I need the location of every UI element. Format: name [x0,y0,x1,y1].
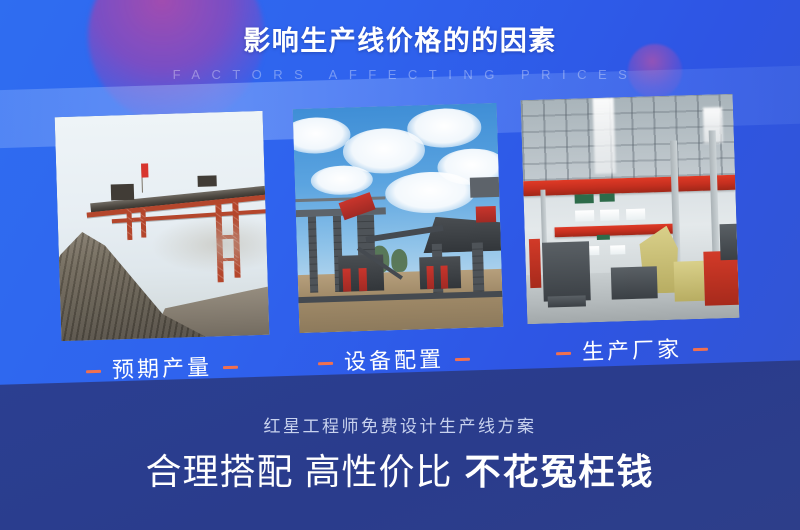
machine-dark-right [720,224,738,260]
caption-label: 预期产量 [112,356,213,381]
caption-equipment-config: 设备配置 [318,348,471,375]
dash-right-icon [223,365,238,368]
photo-workshop [521,94,740,324]
photo-card-equipment-config[interactable] [293,103,504,333]
support-column [472,242,484,292]
dash-right-icon [693,347,708,350]
control-cabin [470,177,499,198]
dash-left-icon [86,369,101,372]
red-leg [426,266,434,289]
photo-crushing-plant [293,103,504,333]
conveyor-head-unit [111,184,134,200]
dust-haze [149,214,267,276]
gantry-leg [126,209,132,240]
red-machine [475,206,496,222]
wall-window [575,210,594,222]
footer-lead-text: 红星工程师免费设计生产线方案 [0,418,800,435]
tree [391,249,408,272]
photo-card-expected-output[interactable] [55,111,270,341]
dash-right-icon [455,357,470,360]
roof-truss [521,94,735,181]
caption-label: 设备配置 [344,348,445,373]
skylight [593,97,617,174]
machine-dark-center [611,266,659,299]
crane-hoist [574,194,593,204]
machine-red-left [529,239,541,289]
machine-yellow-right [674,261,705,302]
promo-banner: 影响生产线价格的的因素 FACTORS AFFECTING PRICES [0,0,800,530]
machine-base [548,295,586,307]
red-leg [342,269,351,292]
crane-hoist [600,194,615,202]
red-leg [359,268,368,291]
red-flag [141,164,148,178]
red-leg [440,266,448,289]
footer-copy: 红星工程师免费设计生产线方案 合理搭配 高性价比不花冤枉钱 [0,418,800,492]
dash-left-icon [318,361,333,364]
photo-stockpile [55,111,270,341]
caption-manufacturer: 生产厂家 [556,338,709,365]
conveyor-head-unit-2 [198,175,217,187]
dash-left-icon [556,351,571,354]
footer-headline-light: 合理搭配 高性价比 [145,451,452,492]
wall-window [600,209,619,221]
machine-dark-left [542,242,590,302]
gantry-brace [133,217,148,221]
footer-headline-strong: 不花冤枉钱 [465,451,655,492]
footer-headline: 合理搭配 高性价比不花冤枉钱 [0,452,800,492]
wall-window [626,209,645,221]
photo-card-manufacturer[interactable] [521,94,740,324]
crane-hoist [597,234,610,240]
gantry-leg [141,209,147,238]
caption-expected-output: 预期产量 [86,356,239,383]
wall-window [610,245,625,254]
caption-label: 生产厂家 [582,338,683,363]
